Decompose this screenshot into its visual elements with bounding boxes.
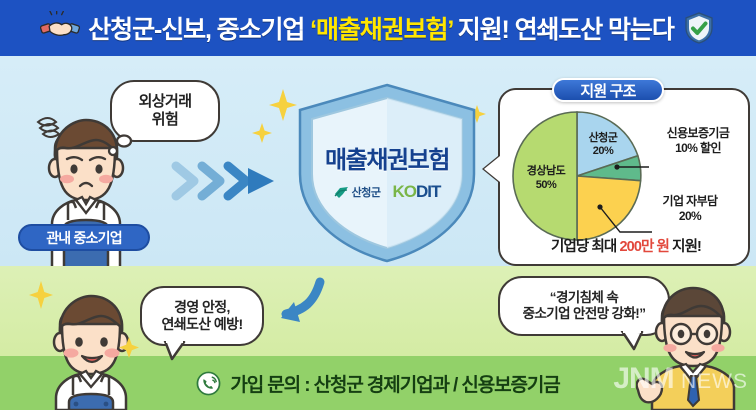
sparkle-small-icon bbox=[252, 122, 272, 144]
handshake-icon bbox=[40, 11, 80, 45]
benefit-bubble-line-1: 경영 안정, bbox=[174, 299, 230, 316]
kodit-o: O bbox=[404, 182, 416, 201]
pie-outside-label-kodit-name: 신용보증기금 bbox=[648, 126, 748, 141]
title-part-1: 산청군-신보, 중소기업 bbox=[88, 16, 310, 44]
infographic-canvas: 산청군-신보, 중소기업 ‘매출채권보험’ 지원! 연쇄도산 막는다 bbox=[0, 0, 756, 410]
title-highlight: ‘매출채권보험’ bbox=[310, 16, 452, 44]
support-structure-title: 지원 구조 bbox=[552, 78, 664, 102]
shield-title: 매출채권보험 bbox=[292, 140, 482, 175]
official-bubble-line-1: “경기침체 속 bbox=[550, 290, 618, 306]
worry-bubble-line-2: 위험 bbox=[152, 111, 178, 129]
pie-label-sancheong-value: 20% bbox=[593, 145, 614, 157]
sparkle-icon-lower-left-2 bbox=[118, 336, 140, 360]
note-prefix: 기업당 최대 bbox=[551, 239, 619, 255]
pie-outside-label-kodit: 신용보증기금 10% 할인 bbox=[648, 126, 748, 156]
sancheong-logo-text: 산청군 bbox=[352, 184, 381, 200]
pie-label-sancheong-name: 산청군 bbox=[589, 130, 618, 144]
page-title: 산청군-신보, 중소기업 ‘매출채권보험’ 지원! 연쇄도산 막는다 bbox=[88, 10, 673, 46]
pie-outside-label-self: 기업 자부담 20% bbox=[640, 194, 740, 224]
pie-label-gyeongnam-value: 50% bbox=[536, 179, 557, 191]
kodit-dit: DIT bbox=[416, 182, 440, 201]
benefit-speech-bubble: 경영 안정, 연쇄도산 예방! bbox=[140, 286, 264, 346]
sancheong-logo: 산청군 bbox=[334, 184, 381, 200]
phone-call-icon bbox=[196, 371, 221, 396]
pie-outside-label-self-name: 기업 자부담 bbox=[640, 194, 740, 209]
insurance-shield-graphic: 매출채권보험 산청군 KODIT bbox=[292, 82, 482, 264]
benefit-bubble-line-2: 연쇄도산 예방! bbox=[161, 316, 242, 333]
pie-outside-label-kodit-value: 10% 할인 bbox=[648, 141, 748, 156]
note-amount: 200만 원 bbox=[620, 239, 670, 255]
worry-speech-bubble: 외상거래 위험 bbox=[110, 80, 220, 142]
sancheong-mark-icon bbox=[334, 186, 349, 199]
bubble-tail bbox=[106, 134, 140, 160]
company-badge: 관내 중소기업 bbox=[18, 224, 150, 251]
note-suffix: 지원! bbox=[669, 239, 701, 255]
pie-label-gyeongnam-name: 경상남도 bbox=[527, 163, 566, 177]
sparkle-icon-lower-left bbox=[28, 280, 54, 310]
curved-arrow-down-icon bbox=[268, 276, 326, 332]
title-part-2: 지원! 연쇄도산 막는다 bbox=[453, 16, 674, 44]
contact-text: 가입 문의 : 산청군 경제기업과 / 신용보증기금 bbox=[230, 370, 559, 397]
partner-logos: 산청군 KODIT bbox=[292, 182, 482, 202]
max-support-note: 기업당 최대 200만 원 지원! bbox=[500, 235, 752, 256]
dizzy-swirl-icon bbox=[38, 118, 59, 137]
pie-outside-label-self-value: 20% bbox=[640, 209, 740, 224]
bubble-tail bbox=[162, 341, 190, 361]
worry-bubble-line-1: 외상거래 bbox=[139, 93, 192, 111]
shield-check-icon bbox=[682, 11, 716, 45]
pie-slice-self-burden bbox=[577, 176, 641, 240]
header-bar: 산청군-신보, 중소기업 ‘매출채권보험’ 지원! 연쇄도산 막는다 bbox=[0, 0, 756, 56]
support-structure-card: 산청군 20% 경상남도 50% 신용보증기금 10% 할인 기업 자부담 20… bbox=[498, 88, 750, 266]
kodit-logo: KODIT bbox=[392, 182, 440, 202]
kodit-k: K bbox=[392, 182, 403, 201]
government-official-illustration bbox=[636, 272, 756, 410]
chevrons-right-icon bbox=[170, 160, 280, 202]
official-bubble-line-2: 중소기업 안전망 강화!” bbox=[523, 306, 646, 322]
